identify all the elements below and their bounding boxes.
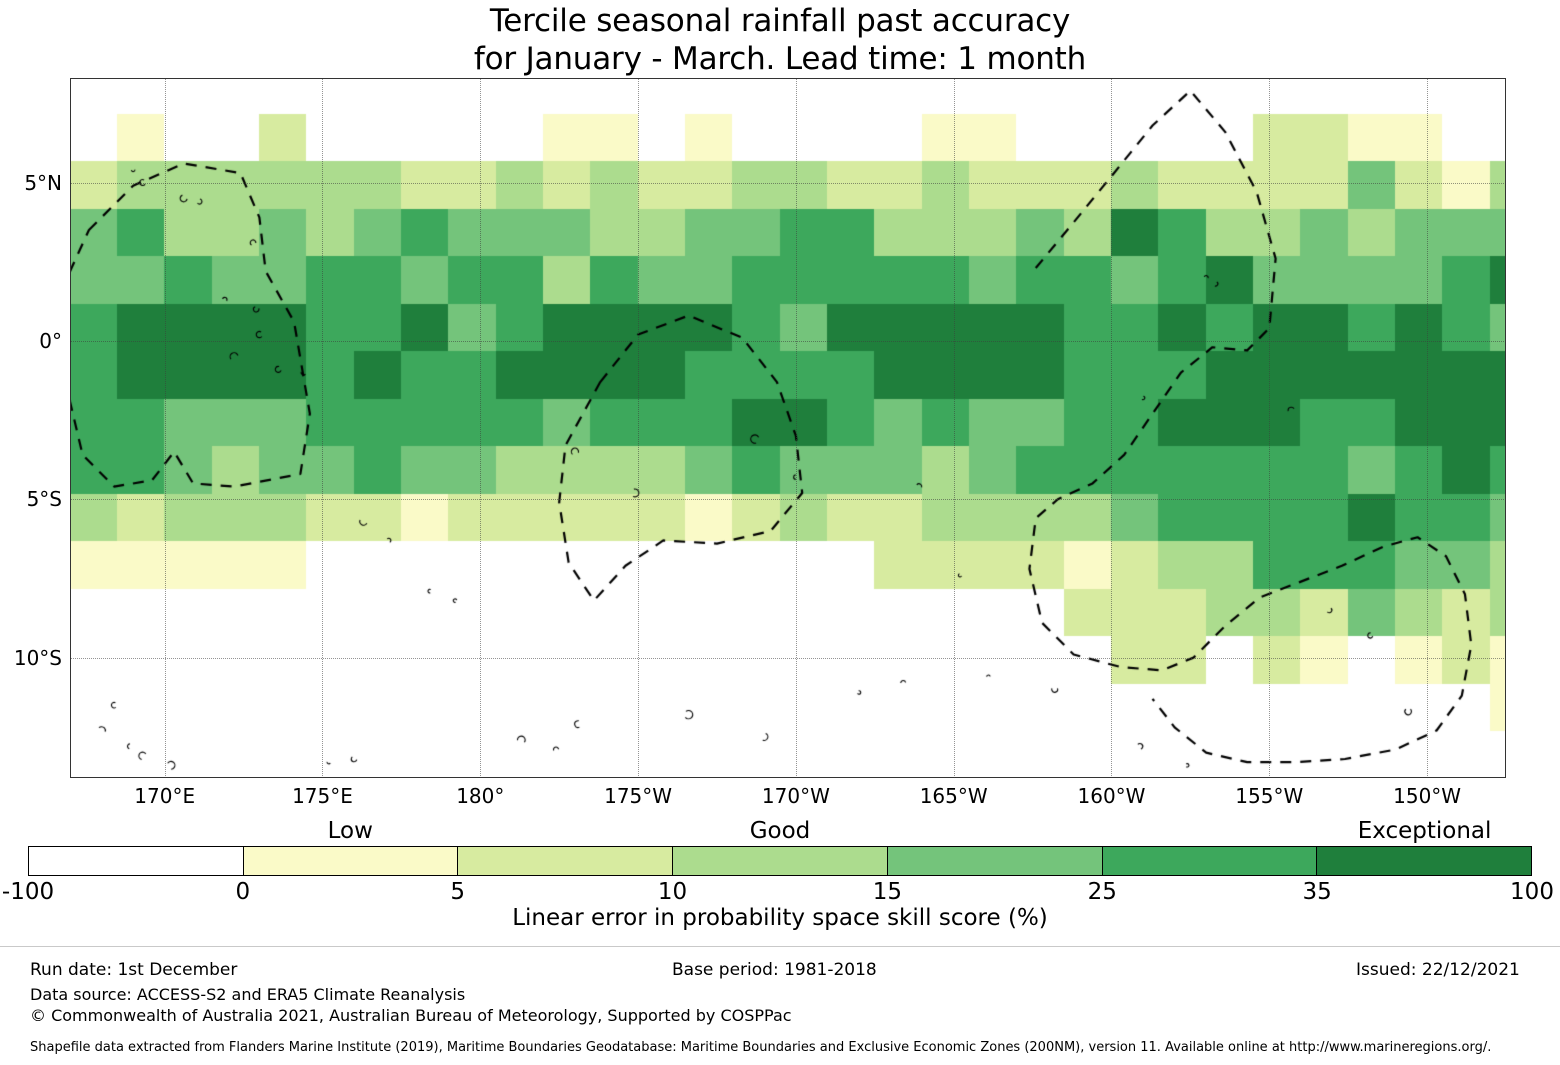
colorbar-tick-label: 10 — [658, 879, 687, 905]
colorbar-segment — [243, 847, 458, 875]
colorbar — [28, 846, 1532, 876]
y-tick-label: 5°N — [62, 171, 100, 195]
base-period: Base period: 1981-2018 — [672, 960, 877, 980]
heatmap-canvas — [70, 78, 1506, 778]
colorbar-segment — [672, 847, 887, 875]
colorbar-segment — [1102, 847, 1317, 875]
colorbar-tick-label: 5 — [450, 879, 465, 905]
issued-date: Issued: 22/12/2021 — [1356, 960, 1520, 980]
x-tick-label: 160°W — [1078, 784, 1146, 808]
footer-divider — [0, 946, 1560, 947]
data-source: Data source: ACCESS-S2 and ERA5 Climate … — [30, 985, 465, 1004]
colorbar-segment — [29, 847, 243, 875]
skill-score-map — [70, 78, 1506, 778]
colorbar-segment — [887, 847, 1102, 875]
colorbar-tick-label: 35 — [1303, 879, 1332, 905]
colorbar-quality-label: Good — [750, 818, 811, 844]
colorbar-label: Linear error in probability space skill … — [0, 905, 1560, 931]
colorbar-tick-label: 0 — [236, 879, 251, 905]
x-tick-label: 170°W — [762, 784, 830, 808]
copyright-notice: © Commonwealth of Australia 2021, Austra… — [30, 1006, 792, 1025]
x-tick-label: 165°W — [920, 784, 988, 808]
colorbar-quality-label: Exceptional — [1358, 818, 1492, 844]
x-tick-label: 155°W — [1235, 784, 1303, 808]
y-tick-label: 5°S — [62, 487, 97, 511]
colorbar-quality-label: Low — [328, 818, 373, 844]
x-tick-label: 170°E — [134, 784, 195, 808]
y-tick-label: 0° — [62, 329, 85, 353]
run-date: Run date: 1st December — [30, 960, 237, 980]
shapefile-credit: Shapefile data extracted from Flanders M… — [30, 1040, 1491, 1055]
colorbar-tick-label: 100 — [1510, 879, 1554, 905]
colorbar-tick-label: 25 — [1088, 879, 1117, 905]
x-tick-label: 175°W — [604, 784, 672, 808]
x-tick-label: 175°E — [292, 784, 353, 808]
colorbar-segment — [1316, 847, 1531, 875]
colorbar-tick-label: 15 — [873, 879, 902, 905]
x-tick-label: 150°W — [1393, 784, 1461, 808]
x-tick-label: 180° — [456, 784, 504, 808]
title-line-1: Tercile seasonal rainfall past accuracy — [0, 2, 1560, 40]
y-tick-label: 10°S — [62, 646, 110, 670]
colorbar-tick-label: -100 — [2, 879, 54, 905]
colorbar-segment — [457, 847, 672, 875]
page-title: Tercile seasonal rainfall past accuracy … — [0, 0, 1560, 78]
title-line-2: for January - March. Lead time: 1 month — [0, 40, 1560, 78]
